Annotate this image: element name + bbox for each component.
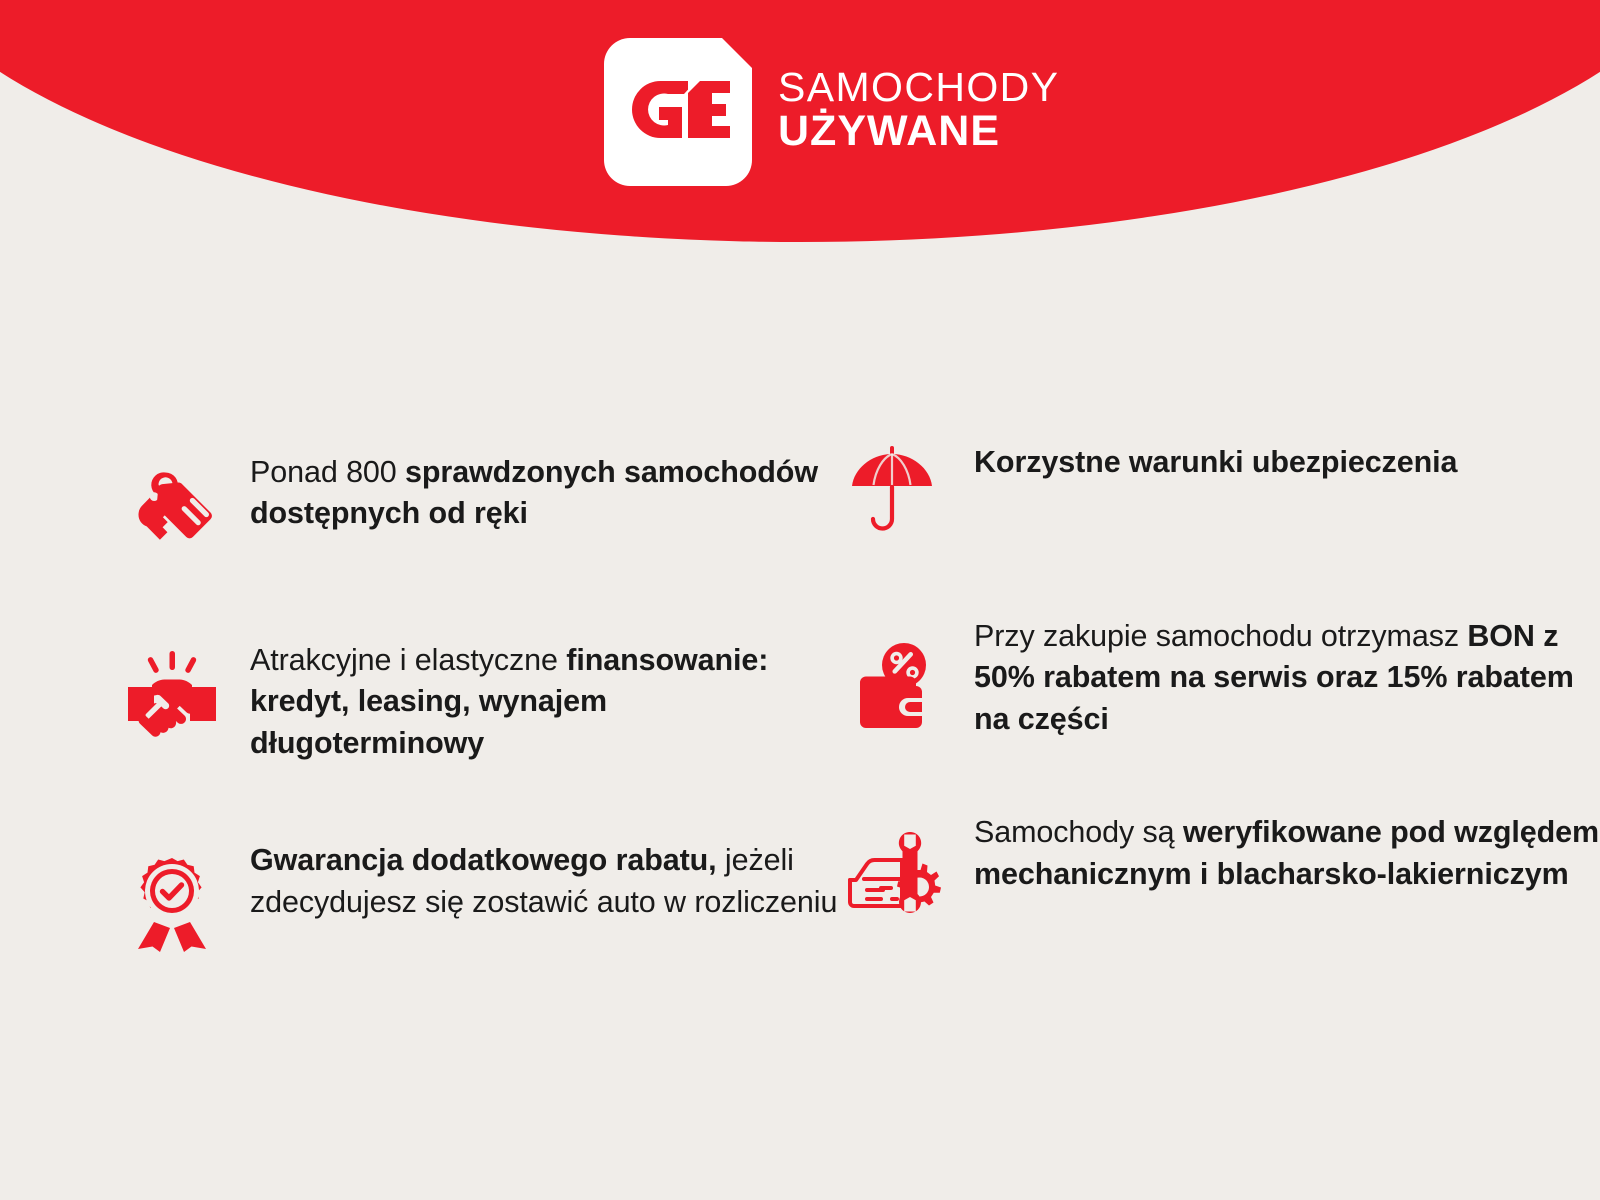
feature-text-bold: Korzystne warunki ubezpieczenia — [974, 445, 1457, 479]
feature-text: Gwarancja dodatkowego rabatu, jeżeli zde… — [250, 836, 840, 923]
feature-text: Atrakcyjne i elastyczne finansowanie: kr… — [250, 636, 840, 764]
feature-item: Korzystne warunki ubezpieczenia — [840, 438, 1600, 542]
feature-text-regular-prefix: Atrakcyjne i elastyczne — [250, 643, 566, 677]
car-key-icon — [120, 454, 224, 558]
infographic-page: SAMOCHODY UŻYWANE — [0, 0, 1600, 1200]
feature-text: Samochody są weryfikowane pod względem m… — [974, 808, 1600, 895]
wallet-percent-icon — [840, 636, 944, 740]
handshake-icon — [120, 642, 224, 746]
feature-text: Korzystne warunki ubezpieczenia — [974, 438, 1600, 483]
feature-text-bold: Gwarancja dodatkowego rabatu, — [250, 843, 717, 877]
award-badge-icon — [120, 850, 224, 954]
brand-logo-lockup[interactable]: SAMOCHODY UŻYWANE — [604, 38, 1059, 186]
feature-column-left: Ponad 800 sprawdzonych samochodów dostęp… — [120, 430, 840, 954]
umbrella-icon — [840, 438, 944, 542]
feature-text: Ponad 800 sprawdzonych samochodów dostęp… — [250, 448, 840, 535]
feature-grid: Ponad 800 sprawdzonych samochodów dostęp… — [0, 430, 1600, 954]
brand-wordmark: SAMOCHODY UŻYWANE — [778, 66, 1059, 157]
feature-item: Gwarancja dodatkowego rabatu, jeżeli zde… — [120, 836, 840, 954]
feature-item: Atrakcyjne i elastyczne finansowanie: kr… — [120, 636, 840, 764]
feature-item: Samochody są weryfikowane pod względem m… — [840, 808, 1600, 924]
brand-line-samochody: SAMOCHODY — [778, 66, 1059, 109]
feature-text-regular-prefix: Ponad 800 — [250, 455, 405, 489]
feature-text-regular-prefix: Samochody są — [974, 815, 1183, 849]
feature-text-regular-prefix: Przy zakupie samochodu otrzymasz — [974, 619, 1467, 653]
feature-text: Przy zakupie samochodu otrzymasz BON z 5… — [974, 612, 1600, 740]
feature-item: Przy zakupie samochodu otrzymasz BON z 5… — [840, 612, 1600, 740]
car-service-icon — [840, 820, 944, 924]
feature-column-right: Korzystne warunki ubezpieczenia — [840, 430, 1600, 954]
feature-item: Ponad 800 sprawdzonych samochodów dostęp… — [120, 448, 840, 558]
brand-line-uzywane: UŻYWANE — [778, 109, 1059, 154]
gb-logo-icon — [604, 38, 752, 186]
